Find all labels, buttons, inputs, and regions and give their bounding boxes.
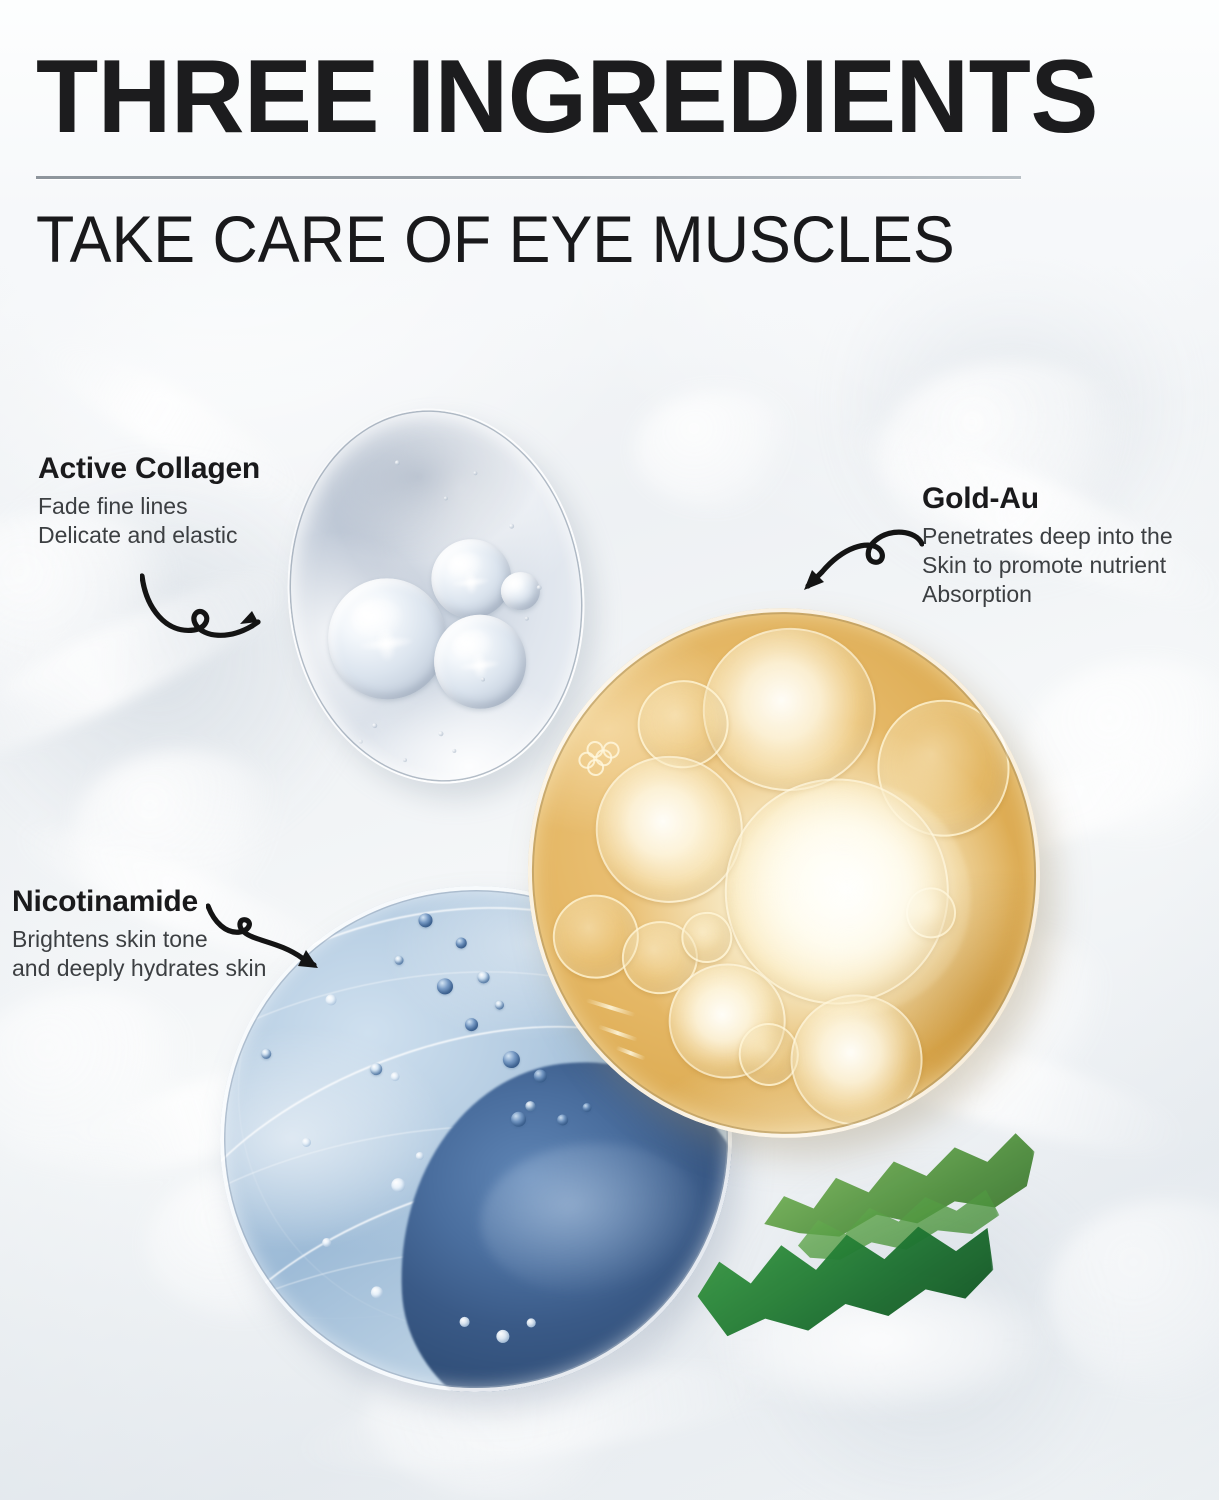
- blue-droplet: [557, 1114, 569, 1126]
- curly-arrow-down-left-icon: [778, 528, 924, 620]
- micro-bubble: [402, 758, 406, 762]
- ingredient-description-line: Penetrates deep into the: [922, 522, 1173, 551]
- blue-droplet: [582, 1103, 591, 1112]
- curly-arrow-up-right-icon: [140, 568, 290, 654]
- header-block: THREE INGREDIENTS TAKE CARE OF EYE MUSCL…: [36, 44, 1036, 274]
- ingredient-description-line: Absorption: [922, 580, 1173, 609]
- ingredient-description-line: Skin to promote nutrient: [922, 551, 1173, 580]
- page-title: THREE INGREDIENTS: [36, 44, 1016, 150]
- micro-bubble: [536, 585, 541, 590]
- blue-droplet: [525, 1100, 536, 1111]
- blue-droplet: [369, 1063, 382, 1076]
- curly-arrow-down-right-icon: [206, 900, 332, 984]
- blue-droplet: [455, 937, 467, 949]
- ingredient-description-line: Fade fine lines: [38, 492, 260, 521]
- ingredient-label-active-collagen: Active Collagen Fade fine lines Delicate…: [38, 452, 260, 550]
- ingredient-description: Penetrates deep into the Skin to promote…: [922, 522, 1173, 610]
- blue-droplet: [302, 1138, 311, 1147]
- blue-droplet: [415, 1152, 423, 1160]
- blue-droplet: [510, 1111, 526, 1127]
- ingredient-description-line: Delicate and elastic: [38, 521, 260, 550]
- ingredient-title: Gold-Au: [922, 482, 1173, 515]
- ingredient-infographic-poster: THREE INGREDIENTS TAKE CARE OF EYE MUSCL…: [0, 0, 1219, 1500]
- ingredient-description: Fade fine lines Delicate and elastic: [38, 492, 260, 550]
- ingredient-label-gold-au: Gold-Au Penetrates deep into the Skin to…: [922, 482, 1173, 610]
- blue-droplet: [465, 1017, 479, 1031]
- page-subtitle: TAKE CARE OF EYE MUSCLES: [36, 205, 986, 274]
- molecule-icon: [577, 738, 624, 776]
- header-divider: [36, 176, 1021, 179]
- ingredient-title: Active Collagen: [38, 452, 260, 485]
